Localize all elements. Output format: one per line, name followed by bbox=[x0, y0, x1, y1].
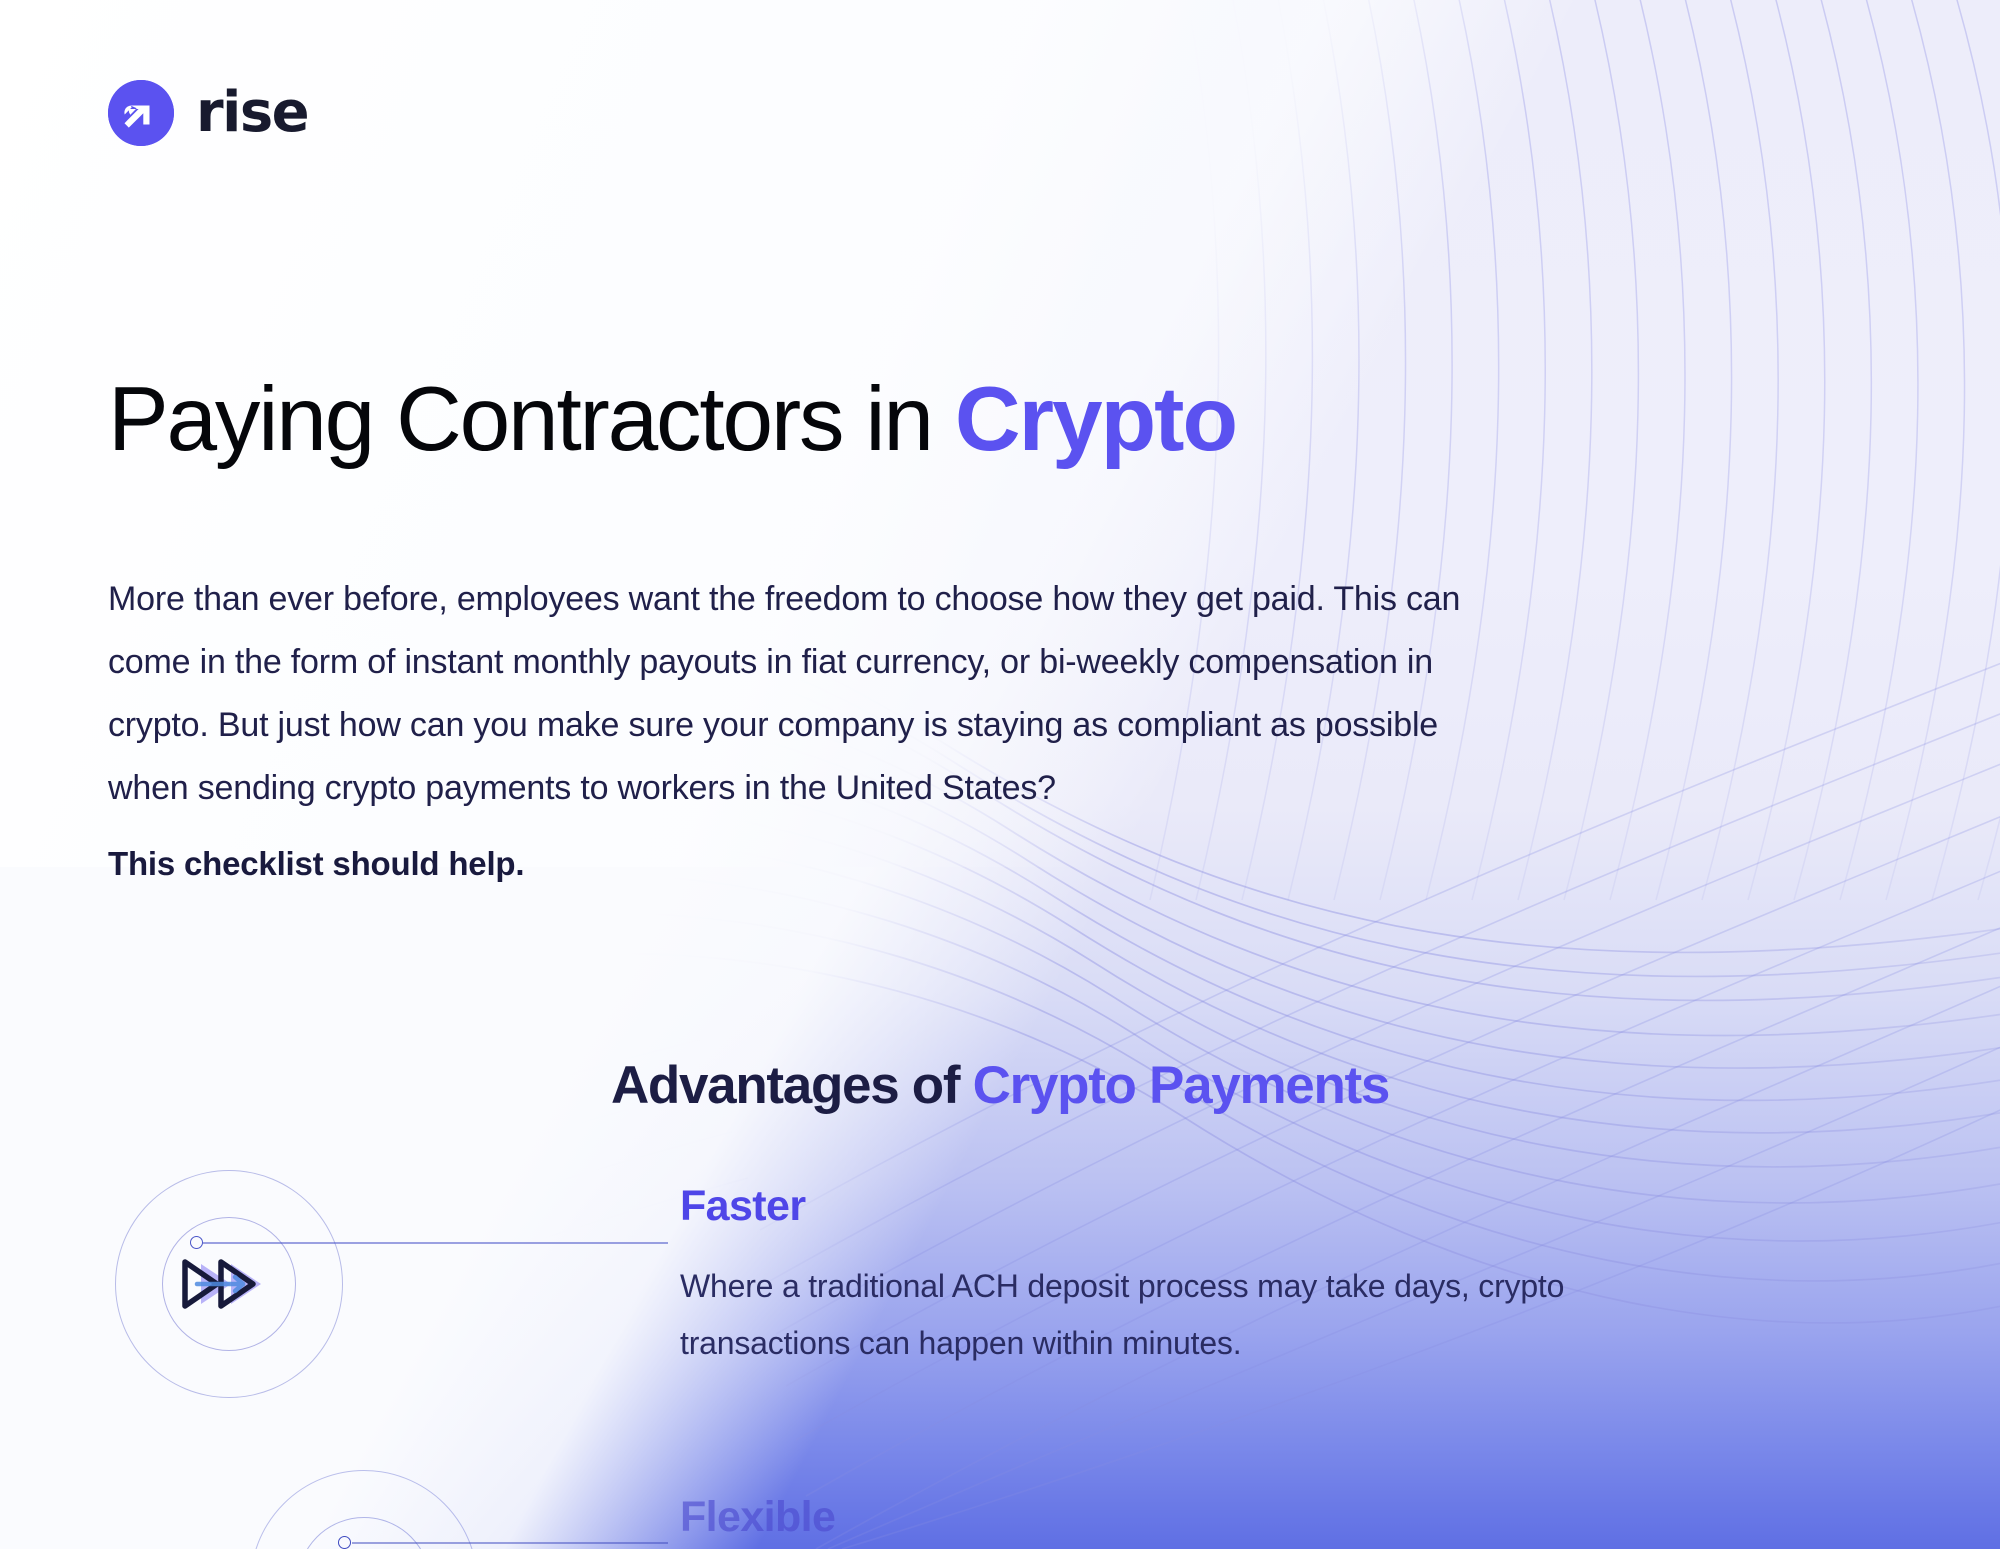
page-content: rise Paying Contractors in Crypto More t… bbox=[0, 0, 2000, 1549]
connector-dot bbox=[338, 1536, 351, 1549]
advantage-title: Flexible bbox=[680, 1493, 835, 1542]
advantage-item-flexible: Flexible bbox=[0, 0, 2000, 1549]
advantage-connector-line bbox=[352, 1542, 668, 1544]
